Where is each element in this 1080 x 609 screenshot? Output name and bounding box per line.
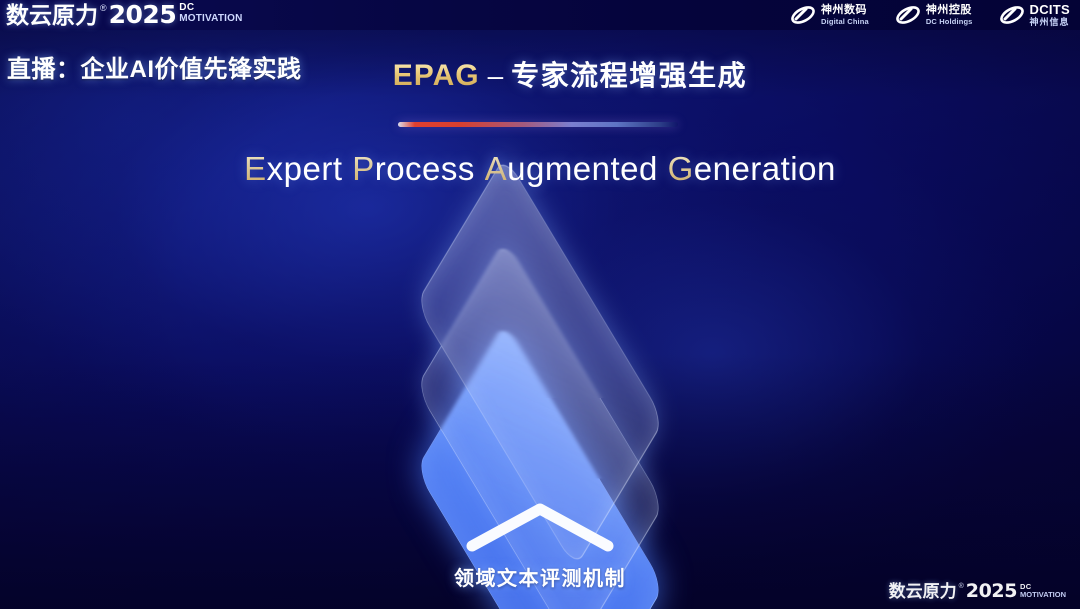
brand-tagline: DC MOTIVATION [179, 3, 242, 24]
gradient-divider [398, 122, 678, 127]
partner-logo-digital-china: 神州数码 Digital China [790, 4, 869, 26]
partner-name-en: DC Holdings [926, 18, 973, 26]
partner-name-cn: 神州数码 [821, 5, 869, 16]
partner-name-cn: DCITS [1030, 3, 1071, 16]
partner-text: 神州数码 Digital China [821, 5, 869, 26]
livestream-label: 直播：企业AI价值先锋实践 [7, 49, 302, 84]
swoosh-icon [895, 4, 921, 26]
watermark-registered-mark: ® [959, 582, 964, 591]
slide-canvas: 数云原力 ® 2025 DC MOTIVATION 直播：企业AI价值先锋实践 … [0, 0, 1080, 609]
brand-tagline-motivation: MOTIVATION [179, 13, 242, 24]
subtitle-rest-generation: eneration [694, 150, 836, 187]
brand-year: 2025 [109, 2, 177, 28]
watermark-year: 2025 [966, 582, 1017, 601]
partner-name-cn: 神州控股 [926, 5, 973, 16]
subtitle-rest-process: rocess [375, 150, 475, 187]
subtitle-cap-g: G [668, 150, 694, 187]
brand-logo: 数云原力 ® 2025 DC MOTIVATION [6, 2, 243, 28]
page-subtitle: Expert Process Augmented Generation [0, 150, 1080, 188]
watermark-tagline-motivation: MOTIVATION [1020, 591, 1066, 600]
chevron-up-icon [464, 500, 616, 554]
watermark-name-cn: 数云原力 [889, 582, 957, 601]
partner-logo-group: 神州数码 Digital China 神州控股 DC Holdings DCIT… [790, 3, 1070, 27]
watermark-tagline: DC MOTIVATION [1020, 583, 1066, 599]
partner-logo-dcits: DCITS 神州信息 [999, 3, 1071, 27]
title-dash: – [480, 60, 512, 91]
partner-text: 神州控股 DC Holdings [926, 5, 973, 26]
subtitle-cap-a: A [485, 150, 508, 187]
brand-registered-mark: ® [100, 2, 107, 15]
brand-tagline-dc: DC [179, 3, 242, 13]
subtitle-rest-augmented: ugmented [507, 150, 658, 187]
subtitle-rest-expert: xpert [267, 150, 343, 187]
title-acronym: EPAG [393, 59, 480, 92]
layered-architecture-diagram: 领域文本评测机制 Dynamic MOE 长文本记忆 三类语义建模模块 [290, 228, 790, 568]
partner-name-en: Digital China [821, 18, 869, 26]
watermark-logo: 数云原力 ® 2025 DC MOTIVATION [889, 582, 1066, 601]
brand-name-cn: 数云原力 [6, 2, 98, 28]
swoosh-icon [999, 4, 1025, 26]
layer-top-label: 领域文本评测机制 [454, 562, 626, 591]
subtitle-cap-p: P [352, 150, 375, 187]
swoosh-icon [790, 4, 816, 26]
title-chinese: 专家流程增强生成 [511, 60, 747, 91]
partner-name-en: 神州信息 [1030, 18, 1071, 27]
partner-logo-dc-holdings: 神州控股 DC Holdings [895, 4, 973, 26]
subtitle-cap-e: E [244, 150, 267, 187]
partner-text: DCITS 神州信息 [1030, 3, 1071, 27]
